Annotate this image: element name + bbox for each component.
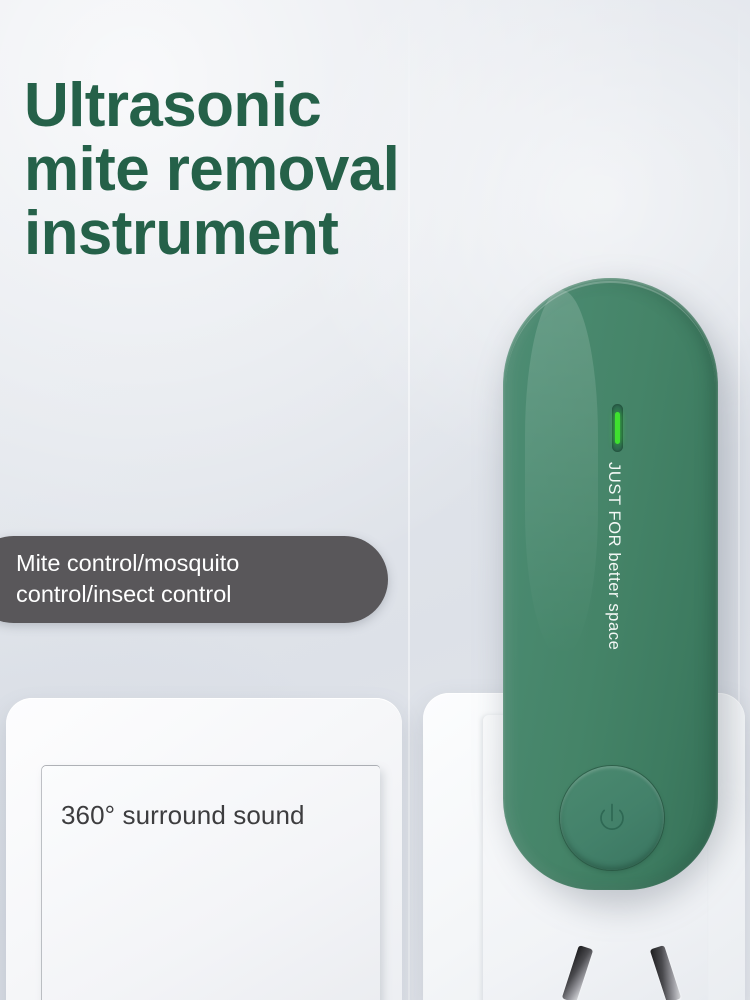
product-banner: 360° surround sound JUST FOR better spac… <box>0 0 750 1000</box>
feature-badge: Mite control/mosquito control/insect con… <box>0 536 388 623</box>
page-title: Ultrasonic mite removal instrument <box>24 74 584 266</box>
power-icon <box>592 798 632 838</box>
switch-rocker[interactable]: 360° surround sound <box>42 766 380 1000</box>
device-brand-text: JUST FOR better space <box>604 462 623 642</box>
status-led-indicator <box>612 404 623 452</box>
wall-switch-plate: 360° surround sound <box>6 698 402 1000</box>
led-core <box>615 412 620 444</box>
power-button[interactable] <box>560 766 664 870</box>
switch-plate-label: 360° surround sound <box>61 800 305 831</box>
device-highlight <box>525 290 598 657</box>
